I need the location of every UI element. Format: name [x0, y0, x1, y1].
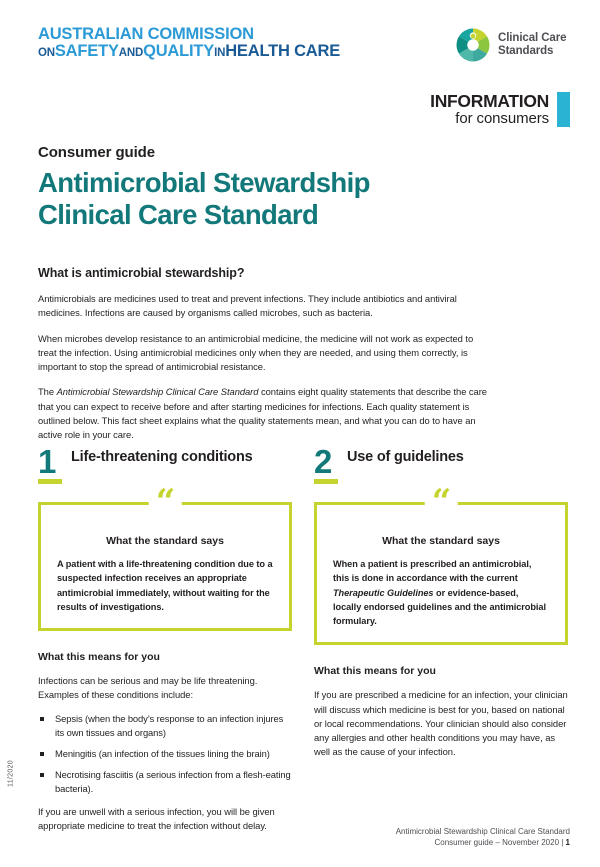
statement-1-quote-text: A patient with a life-threatening condit… — [57, 557, 273, 614]
quality-statements: 1 Life-threatening conditions “ What the… — [38, 448, 568, 843]
statement-2-means-section: What this means for you If you are presc… — [314, 665, 568, 759]
statement-1-means-intro: Infections can be serious and may be lif… — [38, 674, 292, 703]
acsqhc-in: IN — [214, 47, 225, 59]
statement-1-quote-label: What the standard says — [57, 535, 273, 547]
page-footer: Antimicrobial Stewardship Clinical Care … — [396, 826, 570, 849]
list-item: Necrotising fasciitis (a serious infecti… — [38, 768, 292, 796]
clinical-care-standards-wordmark: Clinical Care Standards — [498, 32, 566, 58]
list-item: Sepsis (when the body’s response to an i… — [38, 712, 292, 740]
information-banner-text: INFORMATION for consumers — [430, 92, 549, 127]
page-number: 1 — [566, 838, 570, 847]
quote-mark-icon: “ — [149, 489, 182, 515]
statement-2-quote-label: What the standard says — [333, 535, 549, 547]
intro-p3-standard-name: Antimicrobial Stewardship Clinical Care … — [57, 386, 259, 397]
acsqhc-safety: SAFETY — [55, 42, 119, 60]
acsqhc-and: AND — [119, 47, 143, 59]
title-block: Consumer guide Antimicrobial Stewardship… — [38, 144, 370, 231]
statement-1-number: 1 — [38, 448, 60, 484]
page-title-line-1: Antimicrobial Stewardship — [38, 167, 370, 199]
page-title-line-2: Clinical Care Standard — [38, 199, 370, 231]
page-header: AUSTRALIAN COMMISSION ONSAFETYANDQUALITY… — [0, 0, 600, 90]
statement-1-quote-box: “ What the standard says A patient with … — [38, 502, 292, 631]
statement-1-means-heading: What this means for you — [38, 651, 292, 663]
footer-line-1: Antimicrobial Stewardship Clinical Care … — [396, 826, 570, 838]
statement-2-means-heading: What this means for you — [314, 665, 568, 677]
page-title: Antimicrobial Stewardship Clinical Care … — [38, 167, 370, 231]
statement-1-means-section: What this means for you Infections can b… — [38, 651, 292, 834]
statement-1-means-outro: If you are unwell with a serious infecti… — [38, 805, 292, 834]
footer-edition: Consumer guide – November 2020 | — [435, 838, 566, 847]
statement-2-quote-pre: When a patient is prescribed an antimicr… — [333, 559, 531, 583]
acsqhc-quality: QUALITY — [143, 42, 214, 60]
information-banner: INFORMATION for consumers — [430, 92, 570, 127]
document-page: 11/2020 AUSTRALIAN COMMISSION ONSAFETYAN… — [0, 0, 600, 867]
intro-p3-pre: The — [38, 386, 57, 397]
intro-paragraph-1: Antimicrobials are medicines used to tre… — [38, 292, 488, 321]
acsqhc-line-1: AUSTRALIAN COMMISSION — [38, 26, 340, 43]
statement-1-header: 1 Life-threatening conditions — [38, 448, 292, 484]
quality-statement-1: 1 Life-threatening conditions “ What the… — [38, 448, 292, 843]
publication-code: 11/2020 — [8, 749, 15, 799]
ccs-line-1: Clinical Care — [498, 32, 566, 45]
document-eyebrow: Consumer guide — [38, 144, 370, 161]
acsqhc-commission: COMMISSION — [148, 25, 254, 43]
footer-line-2: Consumer guide – November 2020 | 1 — [396, 837, 570, 849]
acsqhc-health-care: HEALTH CARE — [225, 42, 340, 60]
intro-section: What is antimicrobial stewardship? Antim… — [38, 266, 488, 443]
acsqhc-wordmark: AUSTRALIAN COMMISSION ONSAFETYANDQUALITY… — [38, 26, 340, 60]
intro-paragraph-2: When microbes develop resistance to an a… — [38, 332, 488, 375]
acsqhc-line-2: ONSAFETYANDQUALITYINHEALTH CARE — [38, 43, 340, 60]
list-item: Meningitis (an infection of the tissues … — [38, 747, 292, 761]
information-banner-accent-bar — [557, 92, 570, 127]
statement-2-means-intro: If you are prescribed a medicine for an … — [314, 688, 568, 759]
clinical-care-standards-ring-icon — [455, 27, 491, 63]
statement-1-title: Life-threatening conditions — [71, 448, 253, 466]
clinical-care-standards-logo: Clinical Care Standards — [455, 27, 566, 63]
statement-2-title: Use of guidelines — [347, 448, 464, 466]
intro-heading: What is antimicrobial stewardship? — [38, 266, 488, 280]
quote-mark-icon: “ — [425, 489, 458, 515]
acsqhc-on: ON — [38, 47, 55, 59]
statement-2-header: 2 Use of guidelines — [314, 448, 568, 484]
ccs-line-2: Standards — [498, 45, 566, 58]
statement-2-quote-guidelines: Therapeutic Guidelines — [333, 588, 434, 598]
statement-2-number: 2 — [314, 448, 336, 484]
quality-statement-2: 2 Use of guidelines “ What the standard … — [314, 448, 568, 843]
statement-1-bullet-list: Sepsis (when the body’s response to an i… — [38, 712, 292, 797]
acsqhc-australian: AUSTRALIAN — [38, 25, 143, 43]
statement-2-quote-box: “ What the standard says When a patient … — [314, 502, 568, 645]
statement-2-quote-text: When a patient is prescribed an antimicr… — [333, 557, 549, 628]
for-consumers-label: for consumers — [430, 111, 549, 127]
information-label: INFORMATION — [430, 92, 549, 111]
intro-paragraph-3: The Antimicrobial Stewardship Clinical C… — [38, 385, 488, 442]
